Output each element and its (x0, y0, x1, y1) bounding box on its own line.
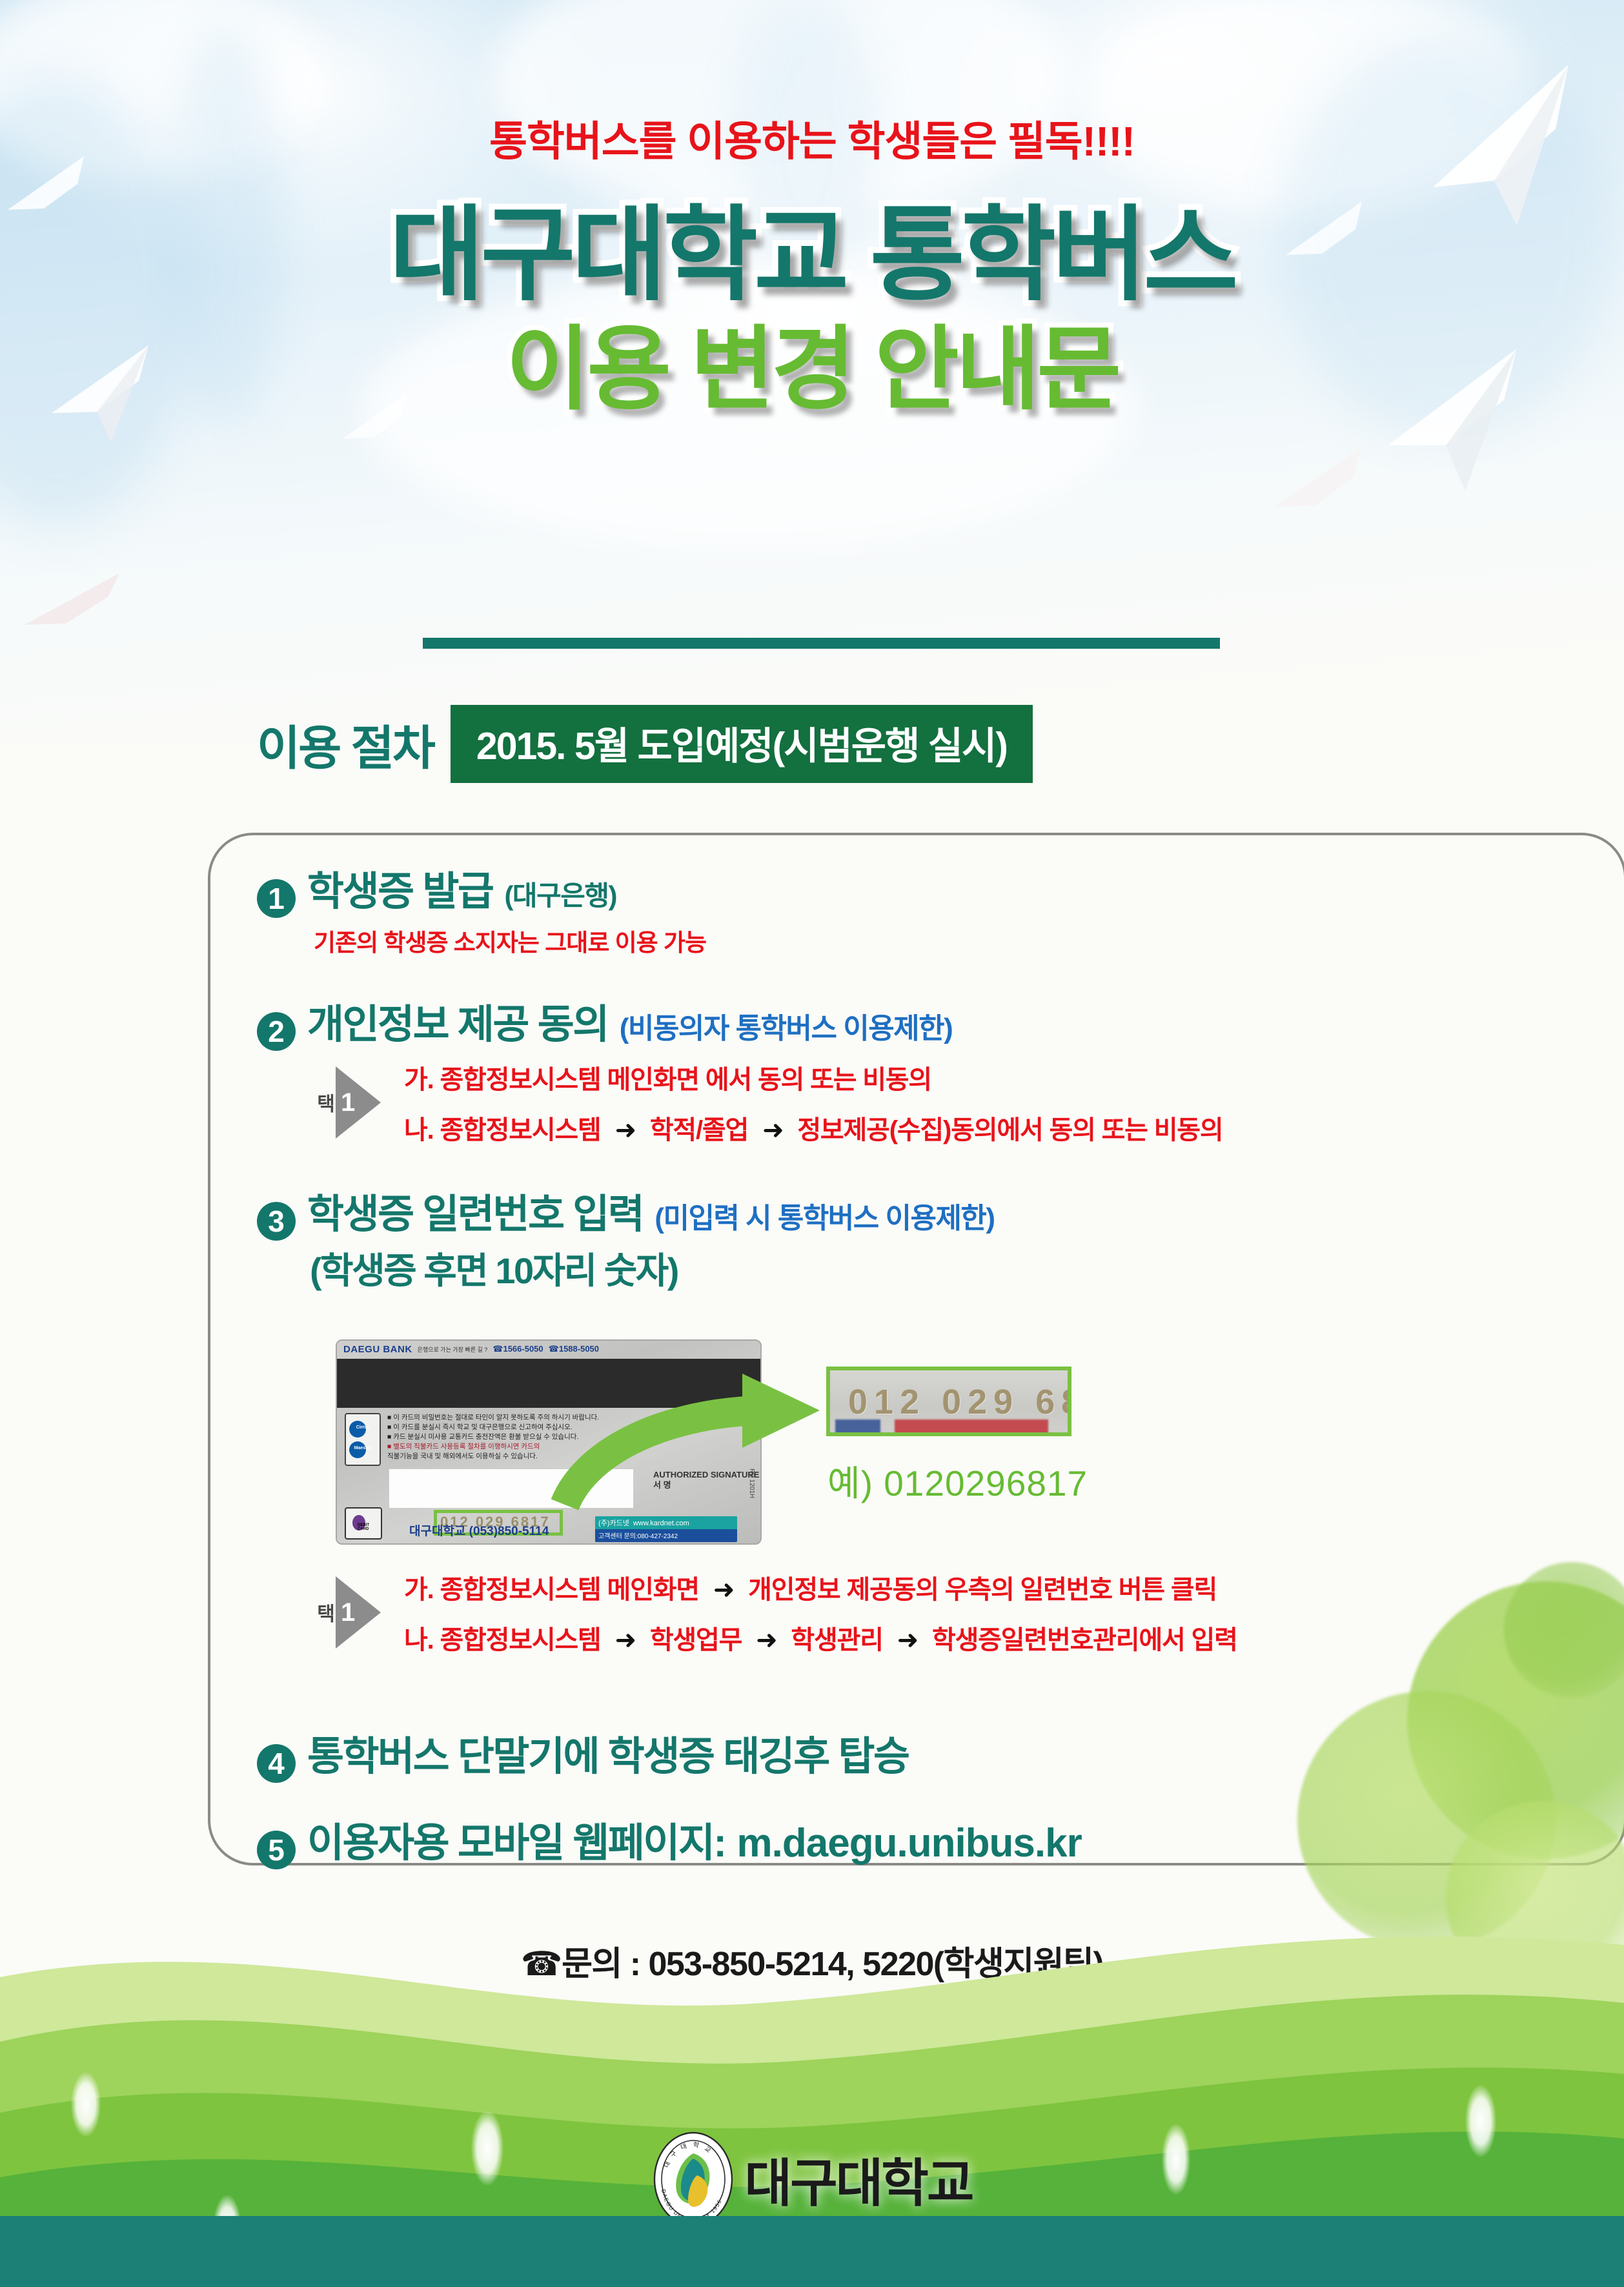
step-2-paren: (비동의자 통학버스 이용제한) (620, 1005, 953, 1046)
choose-one-marker: 택 1 (314, 1066, 390, 1139)
university-seal-icon: 대 구 대 학 교 DAEGU UNIVERSITY 1956 (652, 2130, 735, 2228)
debit-card-logo: DEBIT CARD (345, 1507, 382, 1540)
university-name: 대구대학교 (745, 2142, 973, 2217)
sparkle (71, 2072, 101, 2137)
option-part: 종합정보시스템 메인화면 에서 동의 또는 비동의 (440, 1066, 931, 1094)
step-4: 4 통학버스 단말기에 학생증 태깅후 탑승 (257, 1723, 1574, 1782)
cirrus-label: Cirrus (356, 1425, 370, 1430)
step-2-choose-one: 택 1 가. 종합정보시스템 메인화면 에서 동의 또는 비동의 나. 종합정보… (314, 1059, 1574, 1146)
bottom-bar (0, 2216, 1624, 2287)
section-header: 이용 절차 2015. 5월 도입예정(시범운행 실시) (257, 705, 1033, 783)
serial-example-text: 예) 0120296817 (827, 1454, 1088, 1506)
divider (423, 638, 1220, 649)
option-prefix: 가. (404, 1576, 434, 1604)
option-prefix: 나. (404, 1626, 434, 1654)
arrow-right-icon: ➜ (748, 1626, 784, 1654)
step-2-option-a: 가. 종합정보시스템 메인화면 에서 동의 또는 비동의 (404, 1059, 1223, 1096)
step-1-note: 기존의 학생증 소지자는 그대로 이용 가능 (314, 923, 1574, 958)
curved-arrow-icon (549, 1351, 858, 1512)
step-3-option-a: 가. 종합정보시스템 메인화면 ➜ 개인정보 제공동의 우측의 일련번호 버튼 … (404, 1569, 1237, 1606)
option-prefix: 가. (404, 1066, 434, 1094)
option-part: 개인정보 제공동의 우측의 일련번호 버튼 클릭 (748, 1576, 1217, 1604)
kardnet-name: (주)카드넷 (598, 1520, 629, 1527)
steps-list-lower: 4 통학버스 단말기에 학생증 태깅후 탑승 5 이용자용 모바일 웹페이지: … (257, 1723, 1574, 1868)
step-5: 5 이용자용 모바일 웹페이지: m.daegu.unibus.kr (257, 1810, 1574, 1868)
option-part: 정보제공(수집)동의에서 동의 또는 비동의 (797, 1116, 1223, 1144)
step-number-3: 3 (257, 1202, 296, 1241)
choose-number: 1 (341, 1600, 355, 1625)
steps-list: 1 학생증 발급 (대구은행) 기존의 학생증 소지자는 그대로 이용 가능 2… (257, 859, 1574, 1294)
debit-label: DEBIT CARD (358, 1523, 369, 1531)
section-title: 이용 절차 (257, 710, 434, 778)
triangle-marker-icon: 1 (336, 1576, 381, 1649)
arrow-right-icon: ➜ (607, 1116, 644, 1144)
card-university-phone: 대구대학교 (053)850-5114 (409, 1521, 549, 1539)
choose-number: 1 (341, 1090, 355, 1115)
serial-zoom-callout: 012 029 6817 (826, 1367, 1071, 1436)
callout-blurred-text (835, 1419, 1068, 1436)
choose-label: 택 (314, 1093, 333, 1112)
serial-zoom-number: 012 029 6817 (848, 1382, 1071, 1422)
paper-plane-icon (19, 568, 129, 658)
step-1: 1 학생증 발급 (대구은행) 기존의 학생증 소지자는 그대로 이용 가능 (257, 859, 1574, 958)
cirrus-icon: Cirrus (349, 1419, 376, 1439)
step-number-4: 4 (257, 1744, 296, 1783)
student-card-figure: DAEGU BANK 은행으로 가는 가장 빠른 길 ? ☎1566-5050 … (336, 1339, 1368, 1552)
step-1-heading: 학생증 발급 (307, 859, 492, 917)
option-part: 학적/졸업 (650, 1116, 748, 1144)
page-title-line1: 대구대학교 통학버스 (0, 200, 1624, 310)
arrow-right-icon: ➜ (889, 1626, 926, 1654)
step-3-paren: (미입력 시 통학버스 이용제한) (655, 1195, 994, 1236)
status-badge: 2015. 5월 도입예정(시범운행 실시) (451, 705, 1033, 783)
option-part: 종합정보시스템 메인화면 (440, 1576, 699, 1604)
step-5-heading: 이용자용 모바일 웹페이지: (307, 1810, 726, 1868)
step-3-heading: 학생증 일련번호 입력 (307, 1181, 643, 1239)
step-3-subheading: (학생증 후면 10자리 숫자) (310, 1242, 1574, 1294)
poster-root: 통학버스를 이용하는 학생들은 필독!!!! 대구대학교 통학버스 이용 변경 … (0, 0, 1624, 2287)
kicker-text: 통학버스를 이용하는 학생들은 필독!!!! (0, 108, 1624, 168)
step-number-2: 2 (257, 1012, 296, 1051)
step-3: 3 학생증 일련번호 입력 (미입력 시 통학버스 이용제한) (학생증 후면 … (257, 1181, 1574, 1294)
option-part: 학생관리 (791, 1626, 882, 1654)
option-part: 학생증일련번호관리에서 입력 (932, 1626, 1237, 1654)
choose-label: 택 (314, 1603, 333, 1621)
kardnet-block: (주)카드넷 www.kardnet.com 고객센터 문의:080-427-2… (595, 1516, 737, 1542)
kardnet-row-2: 고객센터 문의:080-427-2342 (595, 1529, 737, 1541)
university-logo-row: 대 구 대 학 교 DAEGU UNIVERSITY 1956 대구대학교 (0, 2130, 1624, 2228)
option-prefix: 나. (404, 1116, 434, 1144)
cirrus-maestro-logo: Cirrus Maestro (345, 1413, 381, 1466)
step-3-options-block: 택 1 가. 종합정보시스템 메인화면 ➜ 개인정보 제공동의 우측의 일련번호… (257, 1569, 1574, 1656)
bank-name: DAEGU BANK (343, 1344, 412, 1355)
maestro-icon: Maestro (349, 1440, 376, 1459)
arrow-right-icon: ➜ (705, 1576, 742, 1604)
step-2-option-b: 나. 종합정보시스템 ➜ 학적/졸업 ➜ 정보제공(수집)동의에서 동의 또는 … (404, 1109, 1223, 1146)
page-title-line2: 이용 변경 안내문 (0, 321, 1624, 419)
arrow-right-icon: ➜ (755, 1116, 791, 1144)
bank-phone-1: ☎1566-5050 (492, 1344, 543, 1354)
debit-icon: DEBIT CARD (352, 1515, 374, 1532)
choose-one-marker: 택 1 (314, 1576, 390, 1649)
step-number-5: 5 (257, 1831, 296, 1869)
maestro-label: Maestro (354, 1446, 372, 1450)
option-part: 학생업무 (650, 1626, 742, 1654)
bank-tagline: 은행으로 가는 가장 빠른 길 ? (418, 1345, 488, 1354)
step-4-heading: 통학버스 단말기에 학생증 태깅후 탑승 (307, 1723, 909, 1782)
step-3-choose-one: 택 1 가. 종합정보시스템 메인화면 ➜ 개인정보 제공동의 우측의 일련번호… (314, 1569, 1574, 1656)
title-block: 대구대학교 통학버스 이용 변경 안내문 (0, 200, 1624, 418)
triangle-marker-icon: 1 (336, 1066, 381, 1139)
mobile-web-url[interactable]: m.daegu.unibus.kr (737, 1820, 1082, 1866)
arrow-right-icon: ➜ (607, 1626, 644, 1654)
kardnet-url: www.kardnet.com (633, 1520, 689, 1527)
step-3-option-b: 나. 종합정보시스템 ➜ 학생업무 ➜ 학생관리 ➜ 학생증일련번호관리에서 입… (404, 1619, 1237, 1656)
kardnet-row-1: (주)카드넷 www.kardnet.com (595, 1516, 737, 1529)
option-part: 종합정보시스템 (440, 1116, 600, 1144)
paper-plane-icon (1265, 439, 1375, 549)
option-part: 종합정보시스템 (440, 1626, 600, 1654)
step-2: 2 개인정보 제공 동의 (비동의자 통학버스 이용제한) 택 1 가. 종합정… (257, 991, 1574, 1146)
step-2-heading: 개인정보 제공 동의 (307, 991, 608, 1050)
step-1-paren: (대구은행) (504, 874, 616, 913)
step-number-1: 1 (257, 879, 296, 918)
